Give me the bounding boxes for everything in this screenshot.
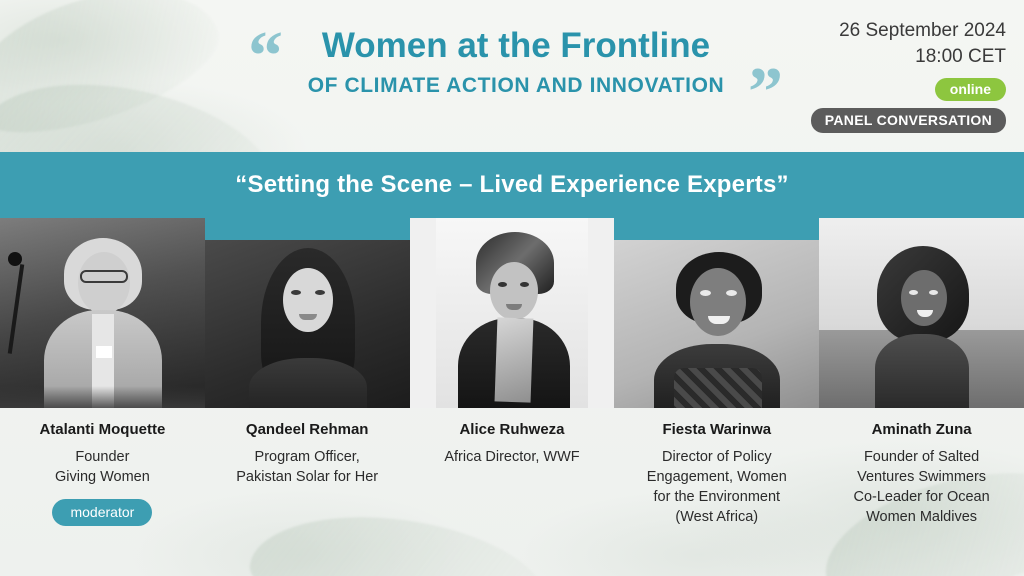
speaker-name: Aminath Zuna xyxy=(872,421,972,438)
speaker-moderator-badge: moderator xyxy=(52,499,152,526)
speaker-card: Fiesta Warinwa Director of Policy Engage… xyxy=(614,218,819,576)
speaker-name: Atalanti Moquette xyxy=(39,421,165,438)
event-meta: 26 September 2024 18:00 CET online PANEL… xyxy=(811,18,1006,133)
speaker-role: Director of Policy Engagement, Women for… xyxy=(639,447,795,527)
speaker-card: Aminath Zuna Founder of Salted Ventures … xyxy=(819,218,1024,576)
event-subtitle: OF CLIMATE ACTION AND INNOVATION xyxy=(246,74,786,98)
status-badge-format: PANEL CONVERSATION xyxy=(811,108,1006,133)
speaker-photo xyxy=(0,218,205,408)
session-title: “Setting the Scene – Lived Experience Ex… xyxy=(235,171,788,199)
session-band: “Setting the Scene – Lived Experience Ex… xyxy=(0,152,1024,218)
speaker-card: Qandeel Rehman Program Officer, Pakistan… xyxy=(205,218,410,576)
speaker-role: Founder Giving Women xyxy=(47,447,158,487)
title-block: Women at the Frontline OF CLIMATE ACTION… xyxy=(246,24,786,98)
slide-header: “ ” Women at the Frontline OF CLIMATE AC… xyxy=(0,0,1024,152)
event-date: 26 September 2024 xyxy=(811,18,1006,44)
speaker-name: Fiesta Warinwa xyxy=(662,421,771,438)
status-badge-online: online xyxy=(935,78,1006,101)
speaker-photo xyxy=(410,218,615,408)
speaker-role: Founder of Salted Ventures Swimmers Co-L… xyxy=(845,447,997,527)
presentation-slide: “ ” Women at the Frontline OF CLIMATE AC… xyxy=(0,0,1024,576)
speaker-card: Alice Ruhweza Africa Director, WWF xyxy=(410,218,615,576)
speaker-grid: Atalanti Moquette Founder Giving Women m… xyxy=(0,218,1024,576)
speaker-photo xyxy=(819,218,1024,408)
speaker-photo xyxy=(614,218,819,408)
speaker-role: Africa Director, WWF xyxy=(436,447,587,467)
speaker-role: Program Officer, Pakistan Solar for Her xyxy=(228,447,386,487)
speaker-name: Qandeel Rehman xyxy=(246,421,369,438)
event-time: 18:00 CET xyxy=(811,44,1006,70)
speaker-card: Atalanti Moquette Founder Giving Women m… xyxy=(0,218,205,576)
event-title: Women at the Frontline xyxy=(246,24,786,68)
speaker-name: Alice Ruhweza xyxy=(459,421,564,438)
speaker-photo xyxy=(205,218,410,408)
